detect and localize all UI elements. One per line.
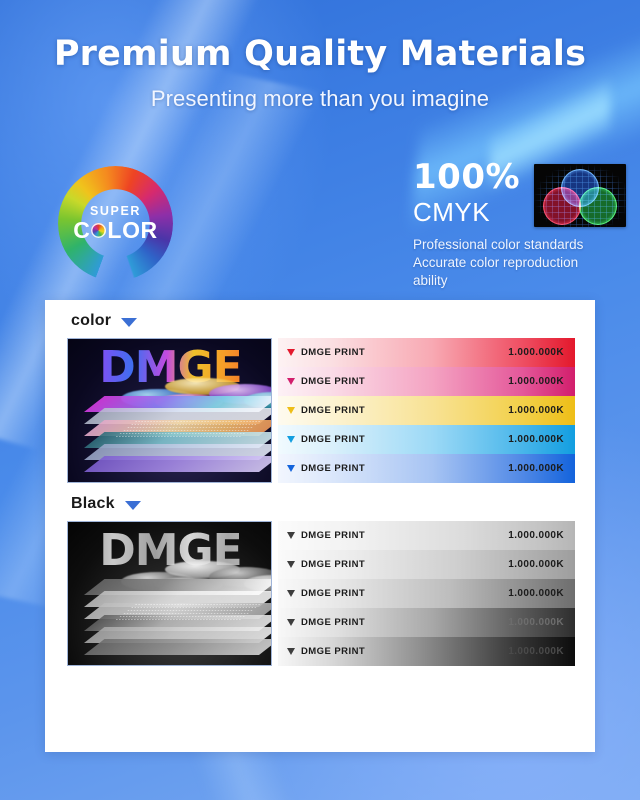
black-swatch-bar-list: DMGE PRINT 1.000.000K DMGE PRINT 1.000.0…	[278, 521, 575, 666]
super-color-logo: SUPER C LOR	[58, 166, 173, 281]
swatch-bar-value: 1.000.000K	[508, 617, 564, 628]
swatch-bar-left: DMGE PRINT	[287, 376, 365, 387]
swatch-bar[interactable]: DMGE PRINT 1.000.000K	[278, 425, 575, 454]
swatch-bar[interactable]: DMGE PRINT 1.000.000K	[278, 521, 575, 550]
triangle-up-icon	[287, 532, 295, 539]
swatch-bar-value: 1.000.000K	[508, 588, 564, 599]
swatch-bar-label: DMGE PRINT	[301, 617, 365, 628]
artwork-black: DMGE	[67, 521, 272, 666]
swatch-bar-left: DMGE PRINT	[287, 347, 365, 358]
triangle-up-icon	[287, 590, 295, 597]
triangle-up-icon	[287, 561, 295, 568]
hero-heading-block: Premium Quality Materials Presenting mor…	[0, 34, 640, 112]
triangle-up-icon	[287, 436, 295, 443]
artwork-sheet	[84, 456, 272, 472]
swatch-bar-value: 1.000.000K	[508, 376, 564, 387]
chevron-down-icon[interactable]	[121, 318, 137, 327]
logo-super-label: SUPER	[90, 205, 141, 218]
section-black-body: DMGE	[45, 521, 595, 666]
cmyk-headline-row: 100% CMYK	[413, 160, 626, 227]
artwork-layer-sheets	[68, 581, 271, 661]
swatch-bar-left: DMGE PRINT	[287, 405, 365, 416]
swatch-bar[interactable]: DMGE PRINT 1.000.000K	[278, 637, 575, 666]
artwork-mesh-texture	[113, 420, 262, 438]
swatch-bar-label: DMGE PRINT	[301, 559, 365, 570]
swatch-bar-left: DMGE PRINT	[287, 646, 365, 657]
artwork-color: DMGE	[67, 338, 272, 483]
swatch-bar[interactable]: DMGE PRINT 1.000.000K	[278, 608, 575, 637]
swatch-bar[interactable]: DMGE PRINT 1.000.000K	[278, 454, 575, 483]
color-swatch-bar-list: DMGE PRINT 1.000.000K DMGE PRINT 1.000.0…	[278, 338, 575, 483]
cmyk-standard: CMYK	[413, 199, 520, 225]
logo-color-lor: LOR	[107, 219, 157, 242]
page-title: Premium Quality Materials	[0, 34, 640, 74]
swatch-bar-left: DMGE PRINT	[287, 463, 365, 474]
cmyk-feature-block: 100% CMYK Professional color standards A…	[413, 160, 626, 291]
triangle-up-icon	[287, 619, 295, 626]
triangle-up-icon	[287, 349, 295, 356]
swatch-bar-value: 1.000.000K	[508, 347, 564, 358]
swatch-bar[interactable]: DMGE PRINT 1.000.000K	[278, 367, 575, 396]
venn-circle-red	[543, 187, 581, 225]
swatch-card: color DMGE	[45, 300, 595, 752]
swatch-bar-left: DMGE PRINT	[287, 588, 365, 599]
cmyk-percent: 100%	[413, 160, 520, 194]
section-black: Black DMGE	[45, 483, 595, 666]
swatch-bar[interactable]: DMGE PRINT 1.000.000K	[278, 550, 575, 579]
artwork-layer-sheets	[68, 398, 271, 478]
triangle-up-icon	[287, 378, 295, 385]
rainbow-circle-icon	[91, 223, 106, 238]
swatch-bar-value: 1.000.000K	[508, 405, 564, 416]
triangle-up-icon	[287, 407, 295, 414]
swatch-bar-label: DMGE PRINT	[301, 530, 365, 541]
triangle-up-icon	[287, 648, 295, 655]
logo-text-group: SUPER C LOR	[58, 166, 173, 281]
swatch-bar-left: DMGE PRINT	[287, 434, 365, 445]
swatch-bar-label: DMGE PRINT	[301, 463, 365, 474]
section-black-title: Black	[71, 495, 115, 513]
triangle-up-icon	[287, 465, 295, 472]
swatch-bar-label: DMGE PRINT	[301, 588, 365, 599]
venn-circle-green	[579, 187, 617, 225]
swatch-bar[interactable]: DMGE PRINT 1.000.000K	[278, 338, 575, 367]
swatch-bar-label: DMGE PRINT	[301, 405, 365, 416]
swatch-bar-value: 1.000.000K	[508, 530, 564, 541]
section-black-header[interactable]: Black	[45, 483, 595, 521]
swatch-bar-label: DMGE PRINT	[301, 434, 365, 445]
section-color-body: DMGE	[45, 338, 595, 483]
swatch-bar-value: 1.000.000K	[508, 646, 564, 657]
chevron-down-icon[interactable]	[125, 501, 141, 510]
swatch-bar-value: 1.000.000K	[508, 434, 564, 445]
swatch-bar[interactable]: DMGE PRINT 1.000.000K	[278, 396, 575, 425]
logo-color-label: C LOR	[73, 219, 158, 242]
rgb-venn-circles-icon	[534, 164, 626, 227]
page-subtitle: Presenting more than you imagine	[0, 86, 640, 112]
cmyk-labels: 100% CMYK	[413, 160, 520, 225]
swatch-bar-left: DMGE PRINT	[287, 617, 365, 628]
swatch-bar-label: DMGE PRINT	[301, 347, 365, 358]
swatch-bar-left: DMGE PRINT	[287, 559, 365, 570]
swatch-bar-value: 1.000.000K	[508, 559, 564, 570]
artwork-sheet	[84, 639, 272, 655]
swatch-bar-label: DMGE PRINT	[301, 376, 365, 387]
cmyk-description: Professional color standards Accurate co…	[413, 236, 611, 291]
swatch-bar[interactable]: DMGE PRINT 1.000.000K	[278, 579, 575, 608]
section-color: color DMGE	[45, 300, 595, 483]
artwork-mesh-texture	[113, 603, 262, 621]
swatch-bar-label: DMGE PRINT	[301, 646, 365, 657]
swatch-bar-value: 1.000.000K	[508, 463, 564, 474]
section-color-header[interactable]: color	[45, 300, 595, 338]
section-color-title: color	[71, 312, 111, 330]
logo-color-c: C	[73, 219, 90, 242]
swatch-bar-left: DMGE PRINT	[287, 530, 365, 541]
